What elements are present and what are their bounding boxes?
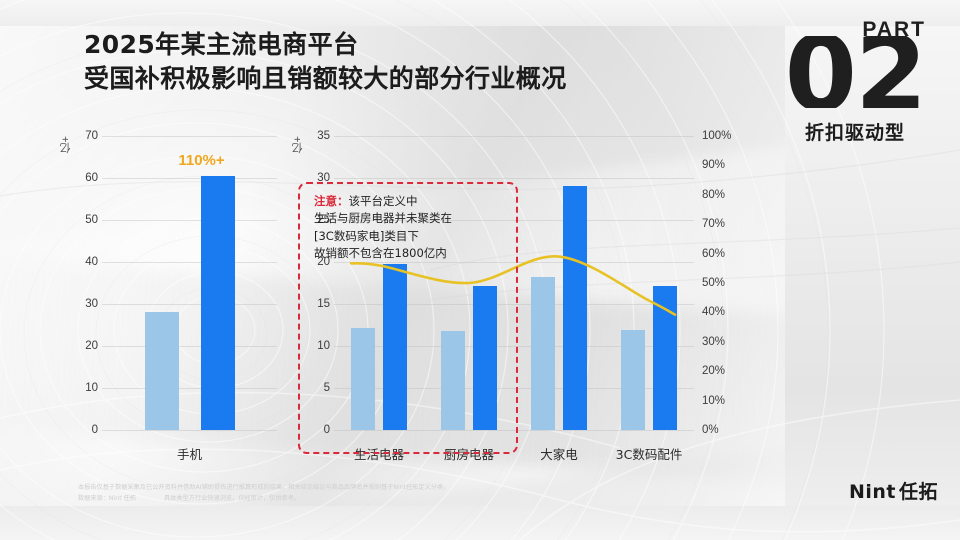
part-number: 02 (770, 36, 940, 108)
y-tick-label: 60 (62, 172, 98, 184)
gridline (102, 220, 277, 221)
x-axis-label-手机: 手机 (177, 444, 202, 463)
x-axis-label-3C数码配件: 3C数码配件 (616, 444, 683, 463)
page-title: 2025年某主流电商平台 受国补积极影响且销额较大的部分行业概况 (84, 28, 684, 95)
y2-tick-label: 50% (702, 277, 742, 289)
bar-前期-3C数码配件 (621, 330, 645, 430)
bar-前期-大家电 (531, 277, 555, 430)
y2-tick-label: 10% (702, 395, 742, 407)
gridline (102, 136, 277, 137)
y2-tick-label: 90% (702, 159, 742, 171)
bar-本期-大家电 (563, 186, 587, 430)
y2-tick-label: 80% (702, 189, 742, 201)
bar-本期-手机 (201, 176, 235, 430)
y-tick-label: 50 (62, 214, 98, 226)
gridline (102, 304, 277, 305)
annotation-line2: 生活与厨房电器并未聚类在 (314, 210, 452, 227)
annotation-prefix: 注意： (314, 194, 349, 208)
part-subtitle: 折扣驱动型 (770, 118, 940, 145)
y2-tick-label: 100% (702, 130, 742, 142)
page-title-line1: 2025年某主流电商平台 (84, 28, 684, 62)
logo-en: Nint (849, 481, 896, 503)
y2-tick-label: 0% (702, 424, 742, 436)
bar-本期-3C数码配件 (653, 286, 677, 430)
gridline (334, 136, 694, 137)
footer-line1: 本报告仅基于数据采集及已公开资料并借助AI辅助提炼进行推算形成的结果，相关结论结… (78, 483, 598, 493)
bar-前期-手机 (145, 312, 179, 430)
nint-logo: Nint任拓 (849, 477, 938, 504)
y-tick-label: 40 (62, 256, 98, 268)
gridline (102, 346, 277, 347)
gridline (102, 430, 277, 431)
y2-tick-label: 20% (702, 365, 742, 377)
annotation-text: 注意：该平台定义中 生活与厨房电器并未聚类在 [3C数码家电]类目下 故销额不包… (314, 193, 452, 262)
annotation-line4: 故销额不包含在1800亿内 (314, 245, 452, 262)
growth-label: 110%+ (178, 152, 224, 169)
y2-tick-label: 30% (702, 336, 742, 348)
y2-tick-label: 70% (702, 218, 742, 230)
logo-cn: 任拓 (899, 481, 938, 503)
y-tick-label: 30 (62, 298, 98, 310)
y-tick-label: 70 (62, 130, 98, 142)
y2-tick-label: 40% (702, 306, 742, 318)
annotation-line1: 该平台定义中 (349, 194, 418, 208)
gridline (102, 262, 277, 263)
x-axis-label-大家电: 大家电 (540, 444, 578, 463)
y-tick-label: 0 (62, 424, 98, 436)
y-tick-label: 20 (62, 340, 98, 352)
phone-bar-chart: 亿+ 010203040506070 手机 110%+ (58, 130, 288, 430)
page-title-line2: 受国补积极影响且销额较大的部分行业概况 (84, 62, 684, 96)
y-tick-label: 10 (62, 382, 98, 394)
footer-disclaimer: 本报告仅基于数据采集及已公开资料并借助AI辅助提炼进行推算形成的结果，相关结论结… (78, 483, 598, 504)
footer-line2b: 具体类型方行业快速浏览，仅经审计，仅供参考。 (164, 495, 300, 502)
gridline (102, 178, 277, 179)
gridline (334, 178, 694, 179)
part-indicator: PART 02 折扣驱动型 (770, 18, 940, 145)
y-tick-label: 35 (294, 130, 330, 142)
gridline (102, 388, 277, 389)
annotation-line3: [3C数码家电]类目下 (314, 228, 452, 245)
y2-tick-label: 60% (702, 248, 742, 260)
footer-source: 数据来源：Nint 任拓 (78, 495, 136, 502)
